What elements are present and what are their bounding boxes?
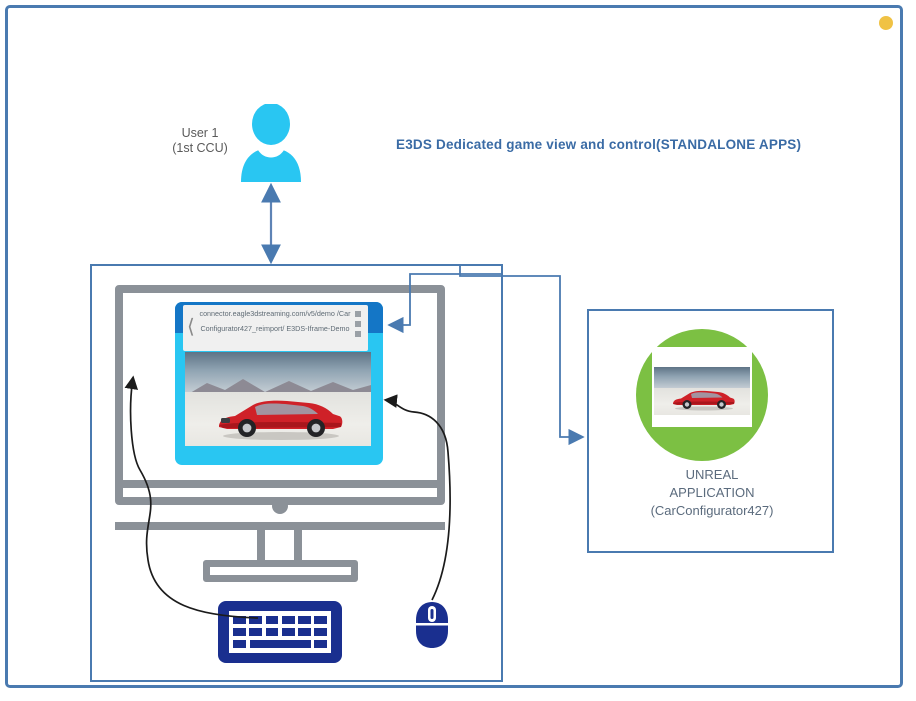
browser-url-text: connector.eagle3dstreaming.com/v5/demo /… bbox=[199, 307, 351, 336]
monitor-stand-neck-right bbox=[294, 530, 302, 560]
application-label-line2: APPLICATION bbox=[612, 484, 812, 502]
user-label-line2: (1st CCU) bbox=[160, 141, 240, 156]
browser-address-bar[interactable]: ⟨ connector.eagle3dstreaming.com/v5/demo… bbox=[183, 305, 368, 351]
monitor-stand-neck-left bbox=[257, 530, 265, 560]
keyboard-row bbox=[233, 628, 327, 636]
monitor-stand-base bbox=[203, 560, 358, 582]
application-label-line1: UNREAL bbox=[612, 466, 812, 484]
application-thumbnail-scene bbox=[654, 367, 750, 415]
car-render-image bbox=[213, 394, 345, 440]
keyboard-keys-area bbox=[229, 611, 331, 653]
browser-viewport bbox=[185, 352, 371, 446]
chevron-left-icon[interactable]: ⟨ bbox=[187, 317, 199, 339]
user-label: User 1 (1st CCU) bbox=[160, 126, 240, 156]
diagram-canvas: E3DS Dedicated game view and control(STA… bbox=[0, 0, 916, 701]
scene-sky bbox=[654, 367, 750, 388]
keyboard-row bbox=[233, 640, 327, 648]
application-label: UNREAL APPLICATION (CarConfigurator427) bbox=[612, 466, 812, 520]
status-dot bbox=[879, 16, 893, 30]
spacebar bbox=[250, 640, 311, 648]
user-avatar-icon bbox=[240, 104, 302, 182]
user-label-line1: User 1 bbox=[160, 126, 240, 141]
monitor-camera-dot bbox=[272, 498, 288, 514]
application-thumbnail bbox=[652, 347, 752, 427]
browser-window[interactable]: ⟨ connector.eagle3dstreaming.com/v5/demo… bbox=[175, 302, 383, 465]
application-label-line3: (CarConfigurator427) bbox=[612, 502, 812, 520]
monitor-bottom-edge bbox=[115, 522, 445, 530]
browser-url-line1: connector.eagle3dstreaming.com/v5/demo bbox=[199, 309, 334, 318]
keyboard-row bbox=[233, 616, 327, 624]
page-title: E3DS Dedicated game view and control(STA… bbox=[396, 137, 801, 152]
mouse-icon[interactable] bbox=[415, 601, 449, 649]
browser-url-line3: E3DS-Iframe-Demo bbox=[286, 324, 349, 333]
keyboard-icon[interactable] bbox=[218, 601, 342, 663]
kebab-menu-icon[interactable] bbox=[355, 311, 361, 341]
car-render-thumbnail bbox=[670, 387, 736, 411]
monitor-divider-bar bbox=[115, 480, 445, 488]
